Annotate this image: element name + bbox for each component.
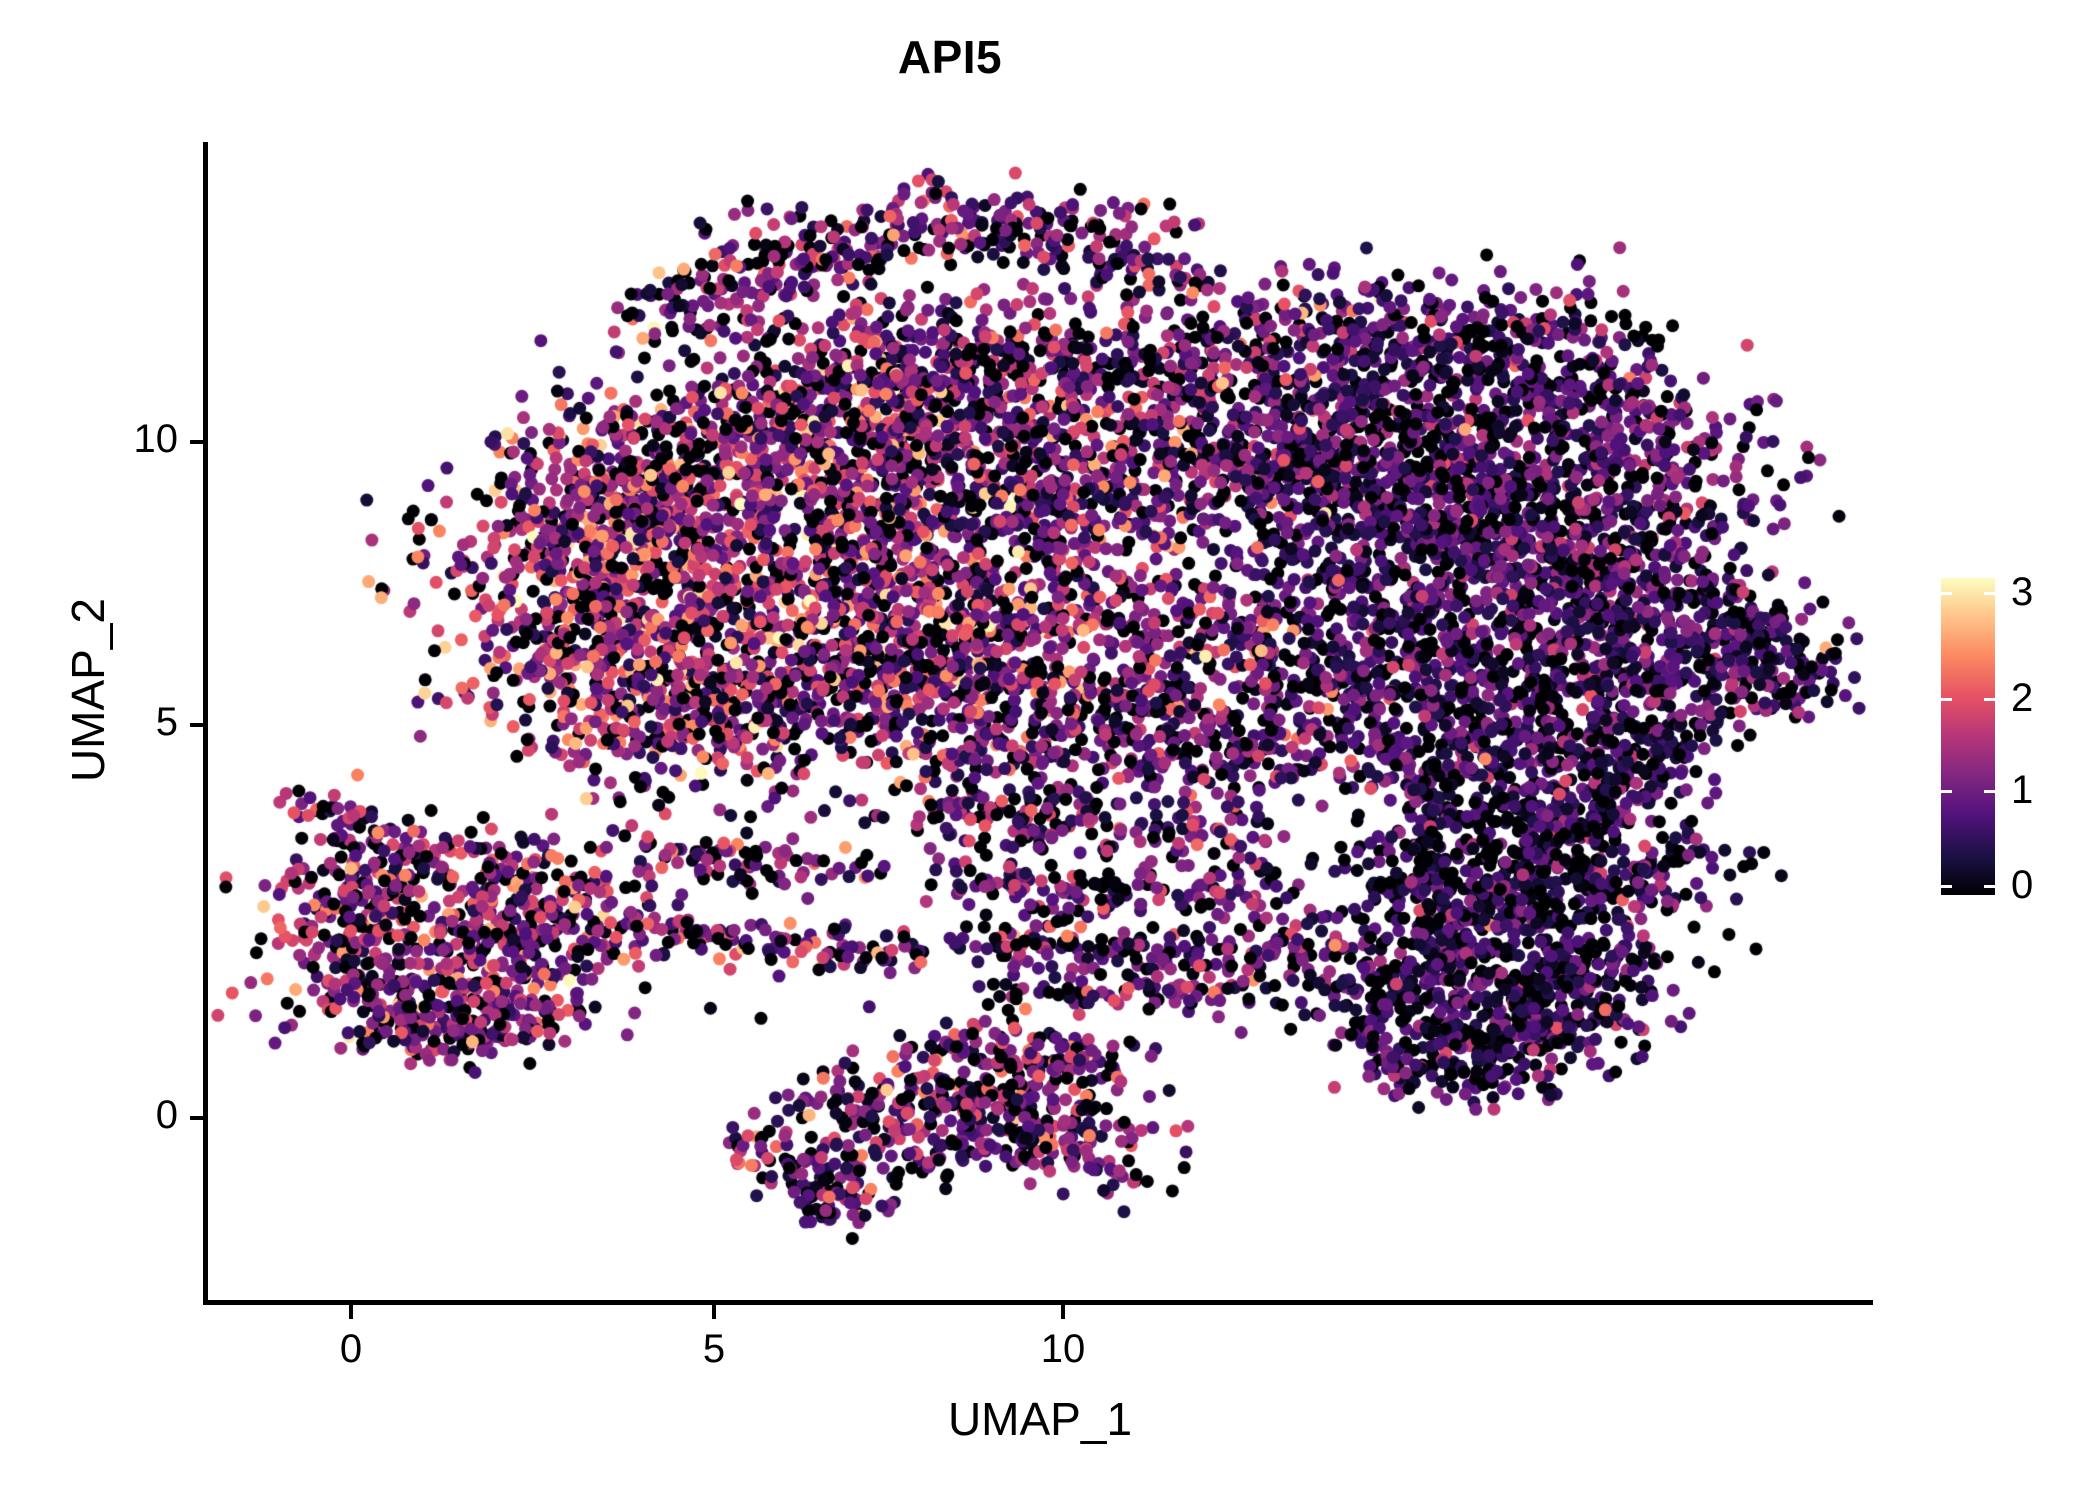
colorbar-tick-3-right <box>1984 592 1995 595</box>
colorbar-tick-0-left <box>1941 885 1952 888</box>
y-tick-label-0: 0 <box>58 1093 178 1138</box>
colorbar-label-1: 1 <box>2011 770 2033 810</box>
plot-panel <box>207 142 1873 1302</box>
y-tick-mark-5 <box>190 723 204 727</box>
x-axis-title: UMAP_1 <box>207 1392 1873 1446</box>
colorbar-tick-1-right <box>1984 790 1995 793</box>
x-tick-label-5: 5 <box>654 1327 774 1372</box>
colorbar-tick-2-left <box>1941 698 1952 701</box>
colorbar-tick-2-right <box>1984 698 1995 701</box>
scatter-plot-canvas <box>207 142 1873 1302</box>
x-axis-line <box>203 1300 1873 1305</box>
colorbar-legend: 3 2 1 0 <box>1941 578 2100 898</box>
x-tick-label-10: 10 <box>1003 1327 1123 1372</box>
x-tick-mark-0 <box>349 1305 353 1319</box>
x-tick-label-0: 0 <box>291 1327 411 1372</box>
colorbar-label-0: 0 <box>2011 865 2033 905</box>
colorbar-tick-3-left <box>1941 592 1952 595</box>
figure-root: API5 10 5 0 0 5 10 UMAP_1 UMAP_2 3 2 1 0 <box>0 0 2100 1500</box>
x-tick-mark-5 <box>712 1305 716 1319</box>
colorbar-label-2: 2 <box>2011 678 2033 718</box>
colorbar-tick-1-left <box>1941 790 1952 793</box>
colorbar-label-3: 3 <box>2011 572 2033 612</box>
y-tick-mark-10 <box>190 440 204 444</box>
y-axis-title: UMAP_2 <box>61 340 115 1040</box>
x-tick-mark-10 <box>1061 1305 1065 1319</box>
colorbar-gradient <box>1941 578 1995 895</box>
y-tick-mark-0 <box>190 1116 204 1120</box>
colorbar-tick-0-right <box>1984 885 1995 888</box>
page-title: API5 <box>0 30 1900 84</box>
